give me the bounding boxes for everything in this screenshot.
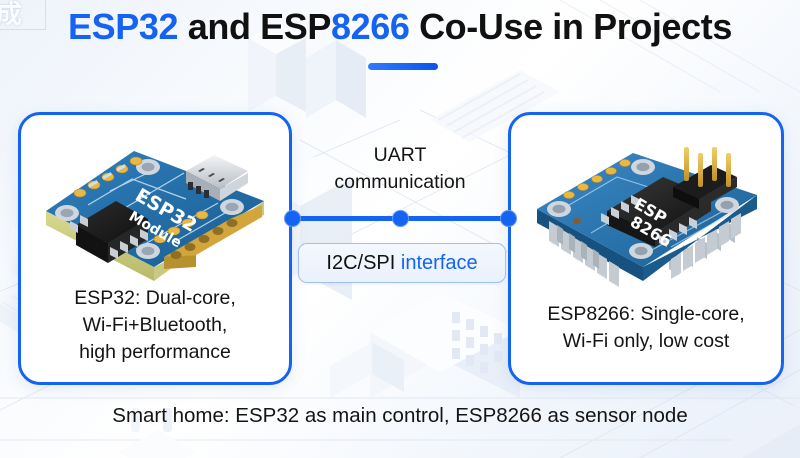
esp8266-board-svg: ESP 8266	[521, 129, 771, 299]
title-part-esp: ESP	[260, 6, 331, 47]
card-esp32[interactable]: ESP32 Module ESP32: Dual-core, Wi-Fi+Blu…	[18, 112, 292, 385]
esp32-caption-line-1: ESP32: Dual-core,	[29, 285, 281, 312]
footer-caption: Smart home: ESP32 as main control, ESP82…	[0, 404, 800, 428]
esp8266-caption-line-2: Wi-Fi only, low cost	[519, 328, 773, 355]
esp32-board-svg: ESP32 Module	[36, 129, 274, 287]
title-part-and: and	[178, 6, 260, 47]
uart-label-line-1: UART	[292, 142, 508, 169]
connector-dot-left	[284, 210, 301, 227]
esp8266-caption: ESP8266: Single-core, Wi-Fi only, low co…	[519, 301, 773, 355]
page-title: ESP32 and ESP8266 Co-Use in Projects	[0, 6, 800, 48]
esp8266-board-image: ESP 8266	[511, 129, 781, 289]
card-esp8266[interactable]: ESP 8266	[508, 112, 784, 385]
esp32-caption-line-2: Wi-Fi+Bluetooth,	[29, 312, 281, 339]
interface-badge-text: I2C/SPI interface	[326, 252, 477, 275]
esp32-board-image: ESP32 Module	[21, 129, 289, 289]
esp32-caption: ESP32: Dual-core, Wi-Fi+Bluetooth, high …	[29, 285, 281, 366]
esp32-caption-line-3: high performance	[29, 339, 281, 366]
title-part-8266: 8266	[331, 6, 410, 47]
title-part-esp32: ESP32	[68, 6, 178, 47]
uart-communication-label: UART communication	[292, 142, 508, 196]
title-part-tail: Co-Use in Projects	[409, 6, 731, 47]
uart-label-line-2: communication	[292, 169, 508, 196]
title-underline-accent	[368, 63, 438, 70]
connector-dot-right	[500, 210, 517, 227]
interface-badge[interactable]: I2C/SPI interface	[298, 243, 506, 283]
slide-canvas: 成 ESP32 and ESP8266 Co-Use in Projects	[0, 0, 800, 458]
interface-primary-text: I2C/SPI	[326, 252, 395, 274]
esp8266-caption-line-1: ESP8266: Single-core,	[519, 301, 773, 328]
interface-secondary-text: interface	[395, 252, 477, 274]
connector-dot-center	[392, 210, 409, 227]
